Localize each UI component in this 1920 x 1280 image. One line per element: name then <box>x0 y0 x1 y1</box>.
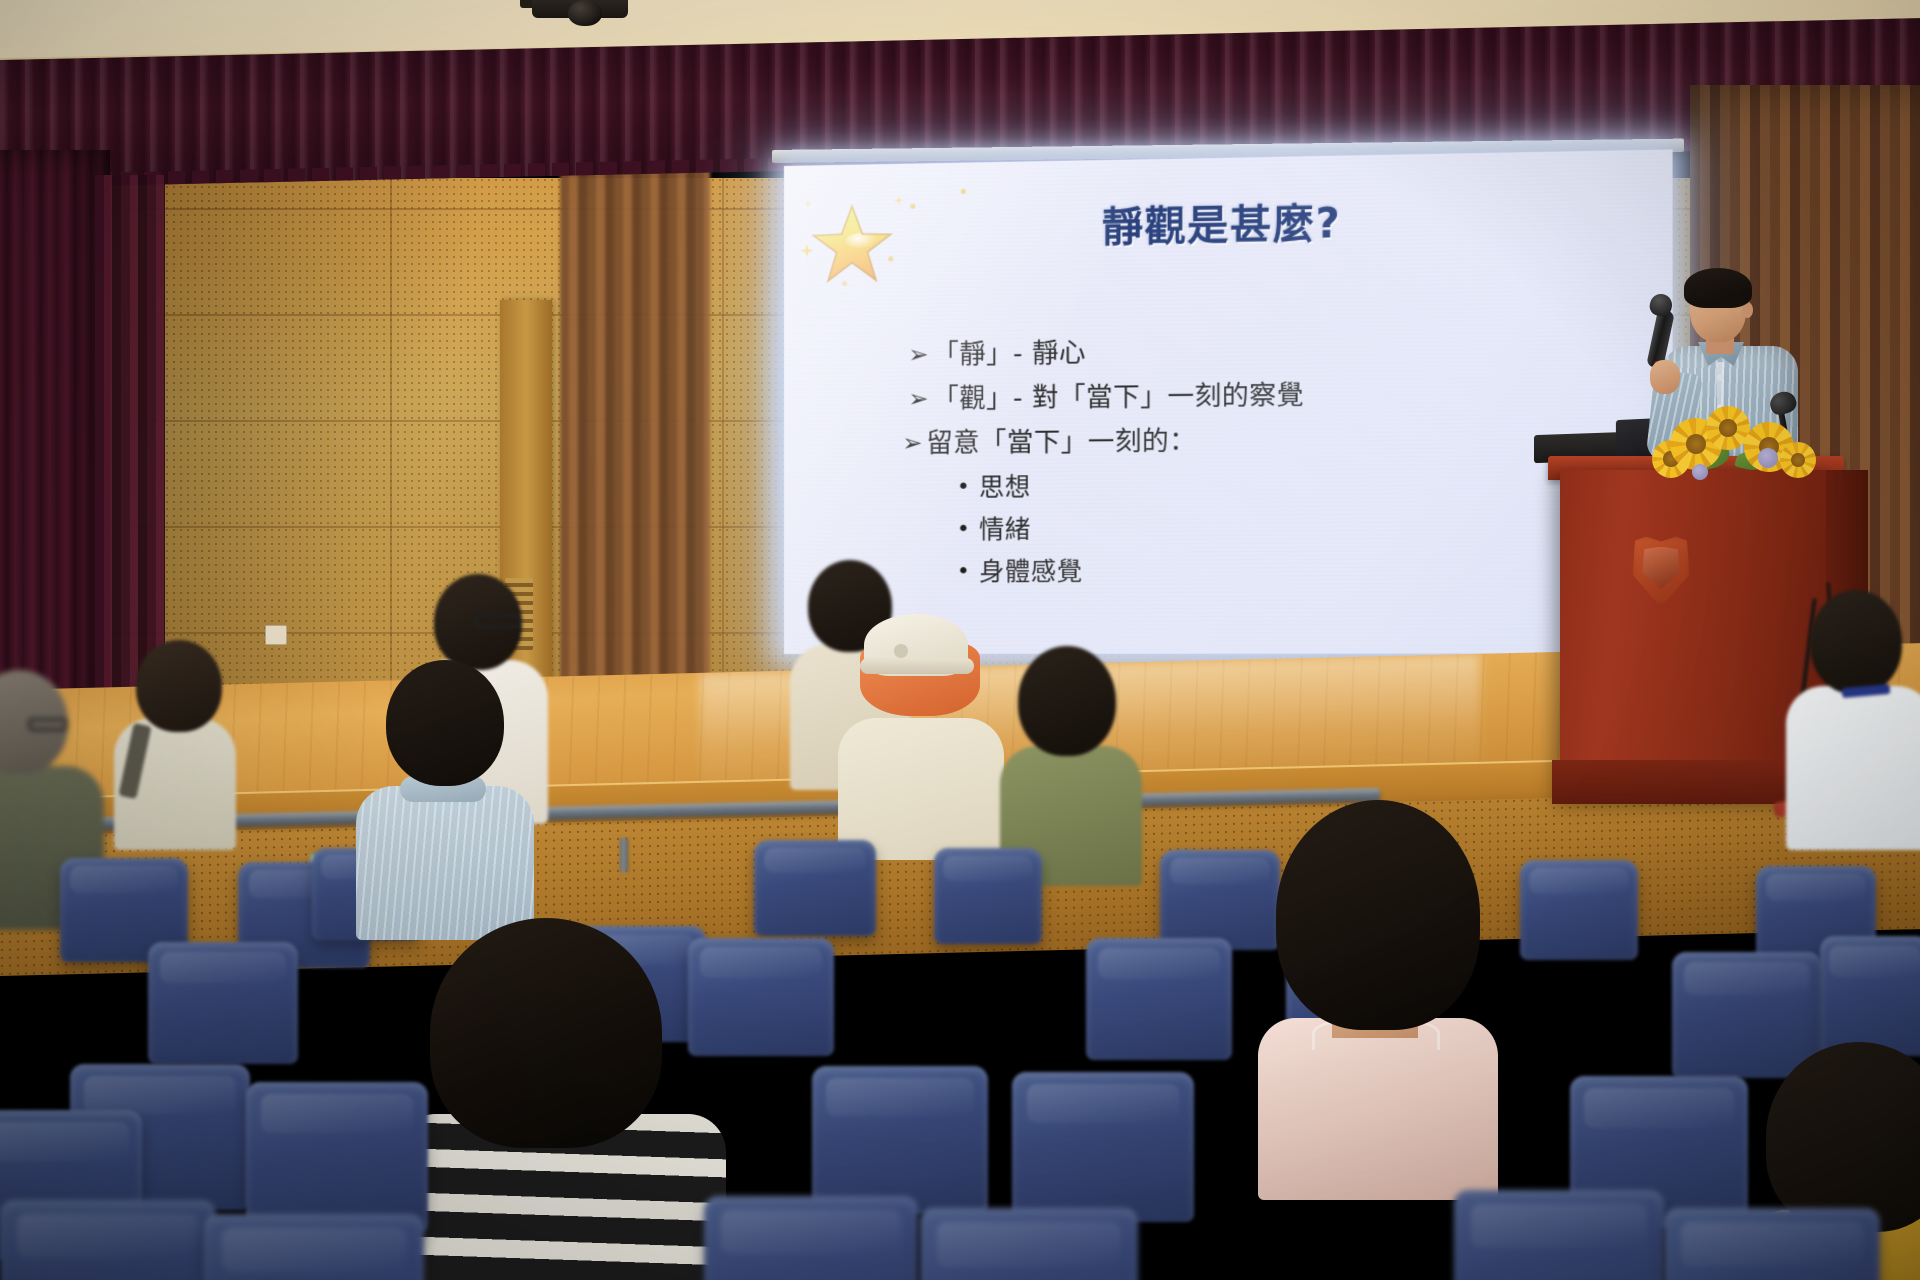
dot-bullet-icon: • <box>957 518 979 540</box>
sub-bullet-item: • 思想 <box>957 470 1630 500</box>
auditorium-seat[interactable] <box>204 1214 424 1280</box>
arrow-bullet-icon: ➢ <box>902 431 926 457</box>
attendee-curly-hair-olive-top <box>110 640 240 850</box>
auditorium-seat[interactable] <box>934 848 1042 944</box>
filler-flower-icon <box>1692 464 1708 480</box>
attendee-white-shirt-lanyard <box>1786 590 1920 850</box>
presentation-slide: 靜觀是甚麼? ➢ 「靜」- 靜心 ➢ 「觀」- 對「當下」一刻的察覺 ➢ 留意「… <box>784 149 1673 654</box>
stage-curtain-left <box>0 150 110 730</box>
auditorium-seat[interactable] <box>920 1208 1138 1280</box>
confetti-dot <box>888 256 893 261</box>
confetti-dot <box>961 189 966 194</box>
attendee-bob-hair-pink-top <box>1258 800 1500 1200</box>
bullet-text: 「觀」- 對「當下」一刻的察覺 <box>933 379 1631 412</box>
auditorium-seat[interactable] <box>1664 1208 1880 1280</box>
bullet-text: 留意「當下」一刻的： <box>926 425 1630 457</box>
stage-curtain-center <box>560 90 710 690</box>
sub-bullet-text: 情緒 <box>979 517 1031 542</box>
wall-switch-plate[interactable] <box>265 625 287 645</box>
dot-bullet-icon: • <box>957 476 979 498</box>
bullet-item: ➢ 「靜」- 靜心 <box>908 334 1630 369</box>
arrow-bullet-icon: ➢ <box>908 386 932 412</box>
auditorium-seat[interactable] <box>812 1066 988 1214</box>
sub-bullet-item: • 情緒 <box>957 513 1630 542</box>
auditorium-seat[interactable] <box>1820 936 1920 1056</box>
auditorium-seat[interactable] <box>0 1200 216 1280</box>
sunflower-arrangement <box>1652 408 1832 480</box>
projection-screen: 靜觀是甚麼? ➢ 「靜」- 靜心 ➢ 「觀」- 對「當下」一刻的察覺 ➢ 留意「… <box>784 149 1673 654</box>
filler-flower-icon <box>1758 448 1778 468</box>
auditorium-presentation-scene: 靜觀是甚麼? ➢ 「靜」- 靜心 ➢ 「觀」- 對「當下」一刻的察覺 ➢ 留意「… <box>0 0 1920 1280</box>
slide-bullet-list: ➢ 「靜」- 靜心 ➢ 「觀」- 對「當下」一刻的察覺 ➢ 留意「當下」一刻的：… <box>908 334 1630 602</box>
auditorium-seat[interactable] <box>704 1196 918 1280</box>
auditorium-seat[interactable] <box>1086 938 1232 1060</box>
sub-bullet-text: 身體感覺 <box>979 559 1083 585</box>
slide-sub-bullet-list: • 思想 • 情緒 • 身體感覺 <box>957 470 1630 585</box>
arrow-bullet-icon: ➢ <box>908 342 932 368</box>
speaker-hand <box>1650 360 1680 394</box>
slide-title: 靜觀是甚麼? <box>784 185 1673 258</box>
audience-area <box>0 690 1920 1280</box>
auditorium-seat[interactable] <box>1520 860 1638 960</box>
auditorium-seat[interactable] <box>148 942 298 1064</box>
attendee-white-cap-orange-hair <box>838 610 1008 860</box>
attendee-light-blue-shirt <box>356 660 536 940</box>
stage-light-icon <box>512 0 652 28</box>
attendee-striped-shirt-foreground <box>398 918 728 1280</box>
speaker-hair <box>1684 268 1752 308</box>
bullet-item: ➢ 「觀」- 對「當下」一刻的察覺 <box>908 379 1630 413</box>
sub-bullet-item: • 身體感覺 <box>957 557 1630 585</box>
sunflower-icon <box>1780 442 1816 478</box>
dot-bullet-icon: • <box>957 561 979 583</box>
confetti-dot <box>842 281 847 286</box>
sub-bullet-text: 思想 <box>979 474 1031 500</box>
bullet-text: 「靜」- 靜心 <box>933 334 1631 369</box>
auditorium-seat[interactable] <box>754 840 876 936</box>
auditorium-seat[interactable] <box>1012 1072 1194 1222</box>
auditorium-seat[interactable] <box>1454 1190 1664 1280</box>
auditorium-seat[interactable] <box>246 1082 428 1232</box>
bullet-item: ➢ 留意「當下」一刻的： <box>902 425 1630 458</box>
